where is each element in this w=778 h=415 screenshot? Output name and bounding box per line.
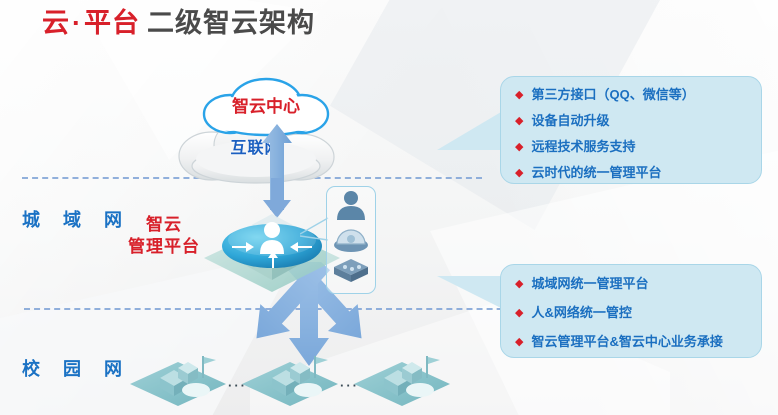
list-item: ◆ 人&网络统一管控 xyxy=(515,303,753,323)
title-brand: 云 xyxy=(42,8,70,38)
campus-node xyxy=(238,348,342,410)
campus-node-row: ··· ··· xyxy=(126,348,466,410)
diamond-bullet-icon: ◆ xyxy=(515,137,523,157)
user-icon xyxy=(327,190,375,225)
title-brand-2: 平台 xyxy=(84,8,140,38)
list-item-label: 城域网统一管理平台 xyxy=(531,274,648,294)
list-item: ◆ 远程技术服务支持 xyxy=(515,137,753,157)
page-title: 云·平台二级智云架构 xyxy=(42,6,315,40)
campus-node xyxy=(126,348,230,410)
list-item: ◆ 设备自动升级 xyxy=(515,111,753,131)
zone-label-metro: 城 域 网 xyxy=(22,206,131,232)
list-item-label: 第三方接口（QQ、微信等） xyxy=(531,85,694,105)
title-separator: · xyxy=(70,8,84,38)
list-item-label: 智云管理平台&智云中心业务承接 xyxy=(531,332,722,352)
zhiyun-platform-label: 智云 管理平台 xyxy=(118,214,210,258)
diamond-bullet-icon: ◆ xyxy=(515,111,523,131)
diamond-bullet-icon: ◆ xyxy=(515,163,523,183)
platform-label-line1: 智云 xyxy=(146,215,182,234)
zhiyun-center-label: 智云中心 xyxy=(198,92,334,117)
list-item-label: 设备自动升级 xyxy=(531,111,609,131)
diamond-bullet-icon: ◆ xyxy=(515,332,523,352)
list-item-label: 人&网络统一管控 xyxy=(531,303,631,323)
server-icon xyxy=(327,257,375,288)
managed-entities-panel xyxy=(326,186,376,294)
callout-metro-features: ◆ 城域网统一管理平台 ◆ 人&网络统一管控 ◆ 智云管理平台&智云中心业务承接 xyxy=(500,264,762,358)
title-subtitle: 二级智云架构 xyxy=(147,8,315,38)
platform-label-line2: 管理平台 xyxy=(128,237,200,256)
callout-bottom-list: ◆ 城域网统一管理平台 ◆ 人&网络统一管控 ◆ 智云管理平台&智云中心业务承接 xyxy=(515,274,753,361)
callout-cloud-features: ◆ 第三方接口（QQ、微信等） ◆ 设备自动升级 ◆ 远程技术服务支持 ◆ 云时… xyxy=(500,76,762,184)
dome-device-icon xyxy=(327,223,375,258)
diagram-canvas: 云·平台二级智云架构 城 域 网 校 园 网 互联网 xyxy=(0,0,778,415)
list-item: ◆ 云时代的统一管理平台 xyxy=(515,163,753,183)
diamond-bullet-icon: ◆ xyxy=(515,85,523,105)
list-item-label: 云时代的统一管理平台 xyxy=(531,163,661,183)
list-item-label: 远程技术服务支持 xyxy=(531,137,635,157)
callout-tail-top xyxy=(437,112,501,150)
diamond-bullet-icon: ◆ xyxy=(515,274,523,294)
list-item: ◆ 智云管理平台&智云中心业务承接 xyxy=(515,332,753,352)
campus-node xyxy=(350,348,454,410)
list-item: ◆ 第三方接口（QQ、微信等） xyxy=(515,85,753,105)
diamond-bullet-icon: ◆ xyxy=(515,303,523,323)
zone-label-campus: 校 园 网 xyxy=(22,355,131,381)
callout-top-list: ◆ 第三方接口（QQ、微信等） ◆ 设备自动升级 ◆ 远程技术服务支持 ◆ 云时… xyxy=(515,85,753,189)
list-item: ◆ 城域网统一管理平台 xyxy=(515,274,753,294)
